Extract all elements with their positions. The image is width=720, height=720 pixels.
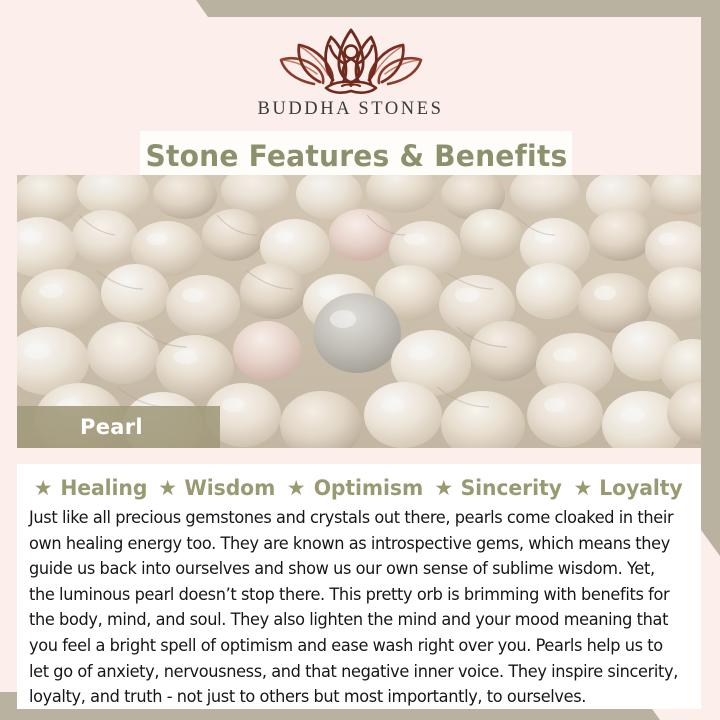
benefit-keyword-row: ★ Healing ★ Wisdom ★ Optimism ★ Sincerit…	[17, 476, 701, 500]
star-icon: ★	[34, 478, 53, 499]
benefit-keyword: ★ Sincerity	[424, 476, 563, 500]
benefit-keyword: ★ Optimism	[277, 476, 425, 500]
lotus-meditation-icon	[276, 24, 426, 98]
stone-benefits-poster: BUDDHA STONES Stone Features & Benefits	[0, 0, 720, 720]
title-ribbon: Stone Features & Benefits	[140, 131, 572, 181]
panel-top-tint	[17, 448, 701, 464]
star-icon: ★	[158, 478, 177, 499]
decorative-frame-top	[196, 0, 720, 17]
pearl-photo-band: Pearl	[17, 175, 701, 448]
poster-sheet: BUDDHA STONES Stone Features & Benefits	[0, 17, 701, 692]
benefit-keyword-label: Healing	[60, 476, 147, 500]
page-title: Stone Features & Benefits	[145, 139, 567, 173]
content-panel: ★ Healing ★ Wisdom ★ Optimism ★ Sincerit…	[17, 448, 701, 709]
benefit-keyword: ★ Loyalty	[564, 476, 685, 500]
benefit-keyword: ★ Healing	[34, 476, 149, 500]
stone-name-label: Pearl	[80, 415, 143, 439]
benefit-keyword-label: Loyalty	[600, 476, 683, 500]
star-icon: ★	[287, 478, 306, 499]
star-icon: ★	[574, 478, 593, 499]
benefit-keyword-label: Wisdom	[184, 476, 275, 500]
brand-block: BUDDHA STONES	[0, 17, 701, 125]
decorative-frame-right	[701, 0, 720, 556]
brand-name: BUDDHA STONES	[257, 99, 443, 120]
photo-caption-strip: Pearl	[17, 406, 220, 448]
star-icon: ★	[434, 478, 453, 499]
benefit-keyword-label: Optimism	[313, 476, 422, 500]
benefit-keyword: ★ Wisdom	[148, 476, 276, 500]
stone-description-text: Just like all precious gemstones and cry…	[29, 505, 681, 710]
benefit-keyword-label: Sincerity	[461, 476, 562, 500]
